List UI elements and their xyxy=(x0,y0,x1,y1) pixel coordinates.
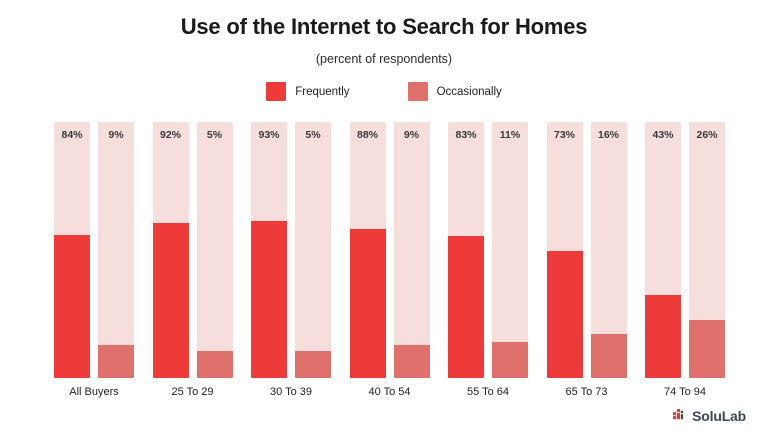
bar-occasionally[interactable]: 5% xyxy=(295,122,331,378)
bar-group: 88%9% xyxy=(350,122,430,378)
bar-value-label: 84% xyxy=(54,129,90,141)
bar-value-label: 88% xyxy=(350,129,386,141)
bar-fill xyxy=(645,295,681,378)
category-label: All Buyers xyxy=(54,386,134,398)
bar-fill xyxy=(197,351,233,378)
brand-logo: SoluLab xyxy=(673,408,746,424)
bar-occasionally[interactable]: 16% xyxy=(591,122,627,378)
legend-swatch-frequently xyxy=(266,82,286,101)
bar-fill xyxy=(295,351,331,378)
bar-value-label: 73% xyxy=(547,129,583,141)
bar-value-label: 92% xyxy=(153,129,189,141)
bar-value-label: 93% xyxy=(251,129,287,141)
bar-group: 73%16% xyxy=(547,122,627,378)
bar-group: 92%5% xyxy=(153,122,233,378)
chart-legend: Frequently Occasionally xyxy=(0,82,768,101)
chart-title: Use of the Internet to Search for Homes xyxy=(0,14,768,40)
bar-value-label: 9% xyxy=(98,129,134,141)
bar-occasionally[interactable]: 26% xyxy=(689,122,725,378)
chart-container: Use of the Internet to Search for Homes … xyxy=(0,0,768,432)
bar-fill xyxy=(98,345,134,378)
plot-area: 84%9%92%5%93%5%88%9%83%11%73%16%43%26% xyxy=(0,122,768,378)
bar-occasionally[interactable]: 5% xyxy=(197,122,233,378)
bar-value-label: 11% xyxy=(492,129,528,141)
bar-frequently[interactable]: 43% xyxy=(645,122,681,378)
bar-fill xyxy=(251,221,287,378)
bar-fill xyxy=(394,345,430,378)
bar-occasionally[interactable]: 9% xyxy=(394,122,430,378)
legend-label-frequently: Frequently xyxy=(295,86,349,98)
chart-subtitle: (percent of respondents) xyxy=(0,52,768,66)
bar-fill xyxy=(153,223,189,378)
bar-value-label: 16% xyxy=(591,129,627,141)
bar-frequently[interactable]: 83% xyxy=(448,122,484,378)
legend-item-occasionally[interactable]: Occasionally xyxy=(408,82,502,101)
bar-fill xyxy=(689,320,725,378)
bar-group: 43%26% xyxy=(645,122,725,378)
bar-occasionally[interactable]: 11% xyxy=(492,122,528,378)
brand-name: SoluLab xyxy=(692,408,746,424)
bar-fill xyxy=(54,235,90,378)
bar-group: 84%9% xyxy=(54,122,134,378)
legend-swatch-occasionally xyxy=(408,82,428,101)
bar-value-label: 5% xyxy=(295,129,331,141)
bar-fill xyxy=(547,251,583,378)
category-label: 65 To 73 xyxy=(547,386,627,398)
bar-group: 93%5% xyxy=(251,122,331,378)
bar-frequently[interactable]: 88% xyxy=(350,122,386,378)
bar-frequently[interactable]: 92% xyxy=(153,122,189,378)
bar-value-label: 5% xyxy=(197,129,233,141)
bar-frequently[interactable]: 73% xyxy=(547,122,583,378)
bar-group: 83%11% xyxy=(448,122,528,378)
category-axis: All Buyers25 To 2930 To 3940 To 5455 To … xyxy=(0,386,768,404)
bar-frequently[interactable]: 93% xyxy=(251,122,287,378)
category-label: 55 To 64 xyxy=(448,386,528,398)
solulab-grid-mark-icon xyxy=(673,409,687,423)
category-label: 74 To 94 xyxy=(645,386,725,398)
bar-value-label: 26% xyxy=(689,129,725,141)
legend-item-frequently[interactable]: Frequently xyxy=(266,82,349,101)
bar-occasionally[interactable]: 9% xyxy=(98,122,134,378)
bar-frequently[interactable]: 84% xyxy=(54,122,90,378)
category-label: 25 To 29 xyxy=(153,386,233,398)
bar-fill xyxy=(591,334,627,378)
bar-value-label: 9% xyxy=(394,129,430,141)
category-label: 30 To 39 xyxy=(251,386,331,398)
bar-fill xyxy=(448,236,484,378)
bar-value-label: 83% xyxy=(448,129,484,141)
bar-value-label: 43% xyxy=(645,129,681,141)
category-label: 40 To 54 xyxy=(350,386,430,398)
legend-label-occasionally: Occasionally xyxy=(437,86,502,98)
bar-fill xyxy=(492,342,528,378)
bar-fill xyxy=(350,229,386,378)
